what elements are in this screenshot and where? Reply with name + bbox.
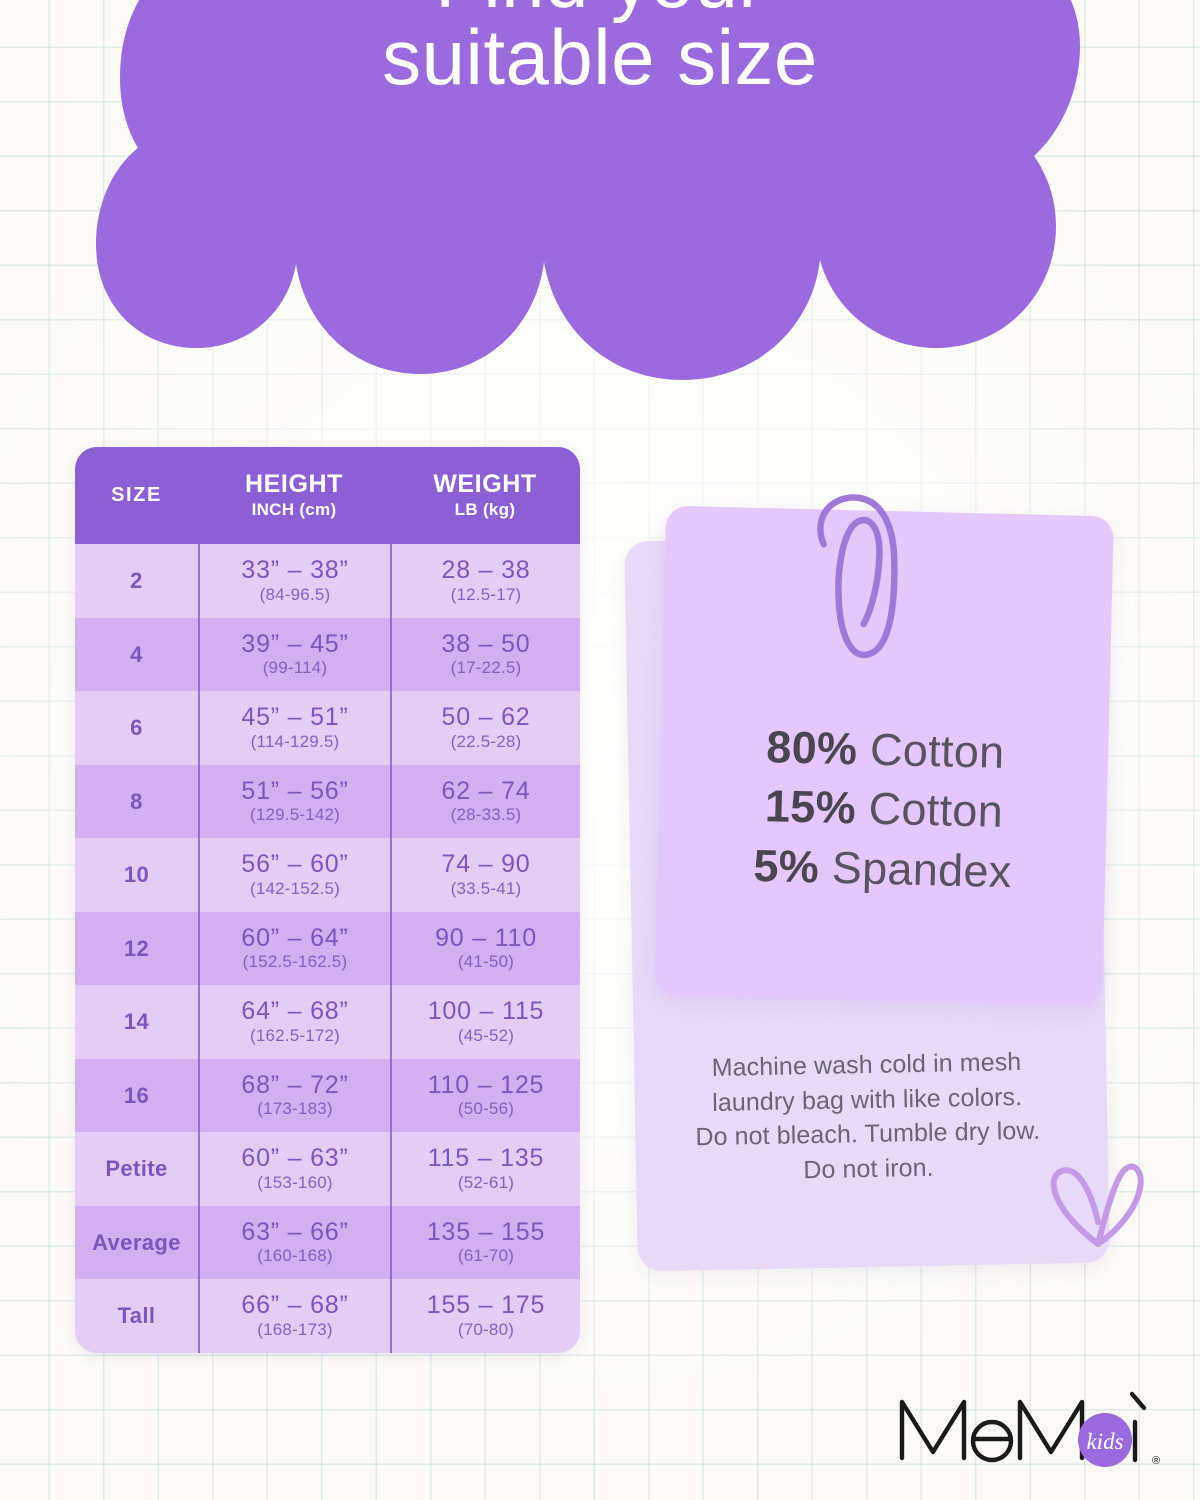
cell-size-value: 10	[124, 863, 149, 886]
cell-size-value: 6	[130, 716, 143, 739]
cell-size-value: 2	[130, 569, 143, 592]
cell-weight-kg: (22.5-28)	[451, 732, 522, 752]
table-header-row: SIZE HEIGHT INCH (cm) WEIGHT LB (kg)	[75, 447, 580, 544]
cell-height-inch: 60” – 63”	[241, 1145, 348, 1172]
cell-height: 68” – 72”(173-183)	[198, 1059, 390, 1133]
cell-height-cm: (99-114)	[263, 658, 328, 678]
cell-size-value: 14	[124, 1010, 149, 1033]
cell-height-inch: 66” – 68”	[241, 1292, 348, 1319]
cell-weight-lb: 155 – 175	[427, 1292, 545, 1319]
cell-size-value: 16	[124, 1084, 149, 1107]
cell-weight-lb: 110 – 125	[428, 1072, 545, 1099]
cell-height-cm: (173-183)	[257, 1099, 333, 1119]
logo-trademark: ®	[1152, 1455, 1160, 1467]
cell-weight-kg: (45-52)	[458, 1026, 514, 1046]
cell-weight-lb: 90 – 110	[435, 925, 537, 952]
cell-weight-lb: 38 – 50	[441, 631, 530, 658]
table-row: 1464” – 68”(162.5-172)100 – 115(45-52)	[75, 985, 580, 1059]
cell-height-cm: (153-160)	[257, 1173, 333, 1193]
header-cloud: Find your suitable size	[0, 0, 1200, 388]
table-row: Average63” – 66”(160-168)135 – 155(61-70…	[75, 1206, 580, 1280]
cell-height-cm: (152.5-162.5)	[243, 952, 348, 972]
cell-height: 39” – 45”(99-114)	[198, 618, 390, 692]
cell-size: 16	[75, 1059, 198, 1133]
cell-height: 60” – 63”(153-160)	[198, 1132, 390, 1206]
cell-height-inch: 39” – 45”	[241, 631, 348, 658]
cell-weight-lb: 135 – 155	[427, 1219, 545, 1246]
cell-height-cm: (114-129.5)	[251, 732, 340, 752]
cell-height: 56” – 60”(142-152.5)	[198, 838, 390, 912]
cell-weight: 28 – 38(12.5-17)	[390, 544, 580, 618]
cell-height: 60” – 64”(152.5-162.5)	[198, 912, 390, 986]
composition-material-1: Cotton	[870, 724, 1006, 778]
column-header-size-label: SIZE	[111, 485, 162, 506]
cell-size: 4	[75, 618, 198, 692]
cell-weight-kg: (28-33.5)	[451, 805, 522, 825]
cell-height-inch: 45” – 51”	[241, 704, 348, 731]
table-row: 439” – 45”(99-114)38 – 50(17-22.5)	[75, 618, 580, 692]
cell-height-cm: (168-173)	[257, 1320, 333, 1340]
cell-size: Petite	[75, 1132, 198, 1206]
cell-size: 6	[75, 691, 198, 765]
column-header-height-label: HEIGHT	[245, 471, 343, 497]
cell-height: 66” – 68”(168-173)	[198, 1279, 390, 1353]
cell-height: 64” – 68”(162.5-172)	[198, 985, 390, 1059]
column-header-weight-unit: LB (kg)	[455, 500, 516, 520]
cell-weight-kg: (61-70)	[458, 1246, 514, 1266]
cell-height-inch: 68” – 72”	[241, 1072, 348, 1099]
table-row: 233” – 38”(84-96.5)28 – 38(12.5-17)	[75, 544, 580, 618]
cell-size: 8	[75, 765, 198, 839]
composition-pct-2: 15%	[764, 780, 856, 833]
cell-height-inch: 63” – 66”	[241, 1219, 348, 1246]
table-body: 233” – 38”(84-96.5)28 – 38(12.5-17)439” …	[75, 544, 580, 1353]
table-row: 1668” – 72”(173-183)110 – 125(50-56)	[75, 1059, 580, 1133]
cell-height-cm: (129.5-142)	[250, 805, 340, 825]
cell-weight-lb: 28 – 38	[441, 557, 530, 584]
size-chart-table: SIZE HEIGHT INCH (cm) WEIGHT LB (kg) 233…	[75, 447, 580, 1353]
composition-pct-3: 5%	[753, 840, 820, 893]
cell-size: 14	[75, 985, 198, 1059]
logo-letter-i-accent	[1132, 1394, 1144, 1408]
column-header-weight-label: WEIGHT	[433, 471, 537, 497]
cell-weight-kg: (17-22.5)	[451, 658, 522, 678]
cell-size: 12	[75, 912, 198, 986]
composition-material-2: Cotton	[868, 783, 1004, 837]
cell-weight: 74 – 90(33.5-41)	[390, 838, 580, 912]
cell-height: 63” – 66”(160-168)	[198, 1206, 390, 1280]
cell-height-cm: (162.5-172)	[250, 1026, 340, 1046]
cell-weight-lb: 62 – 74	[441, 778, 530, 805]
table-row: Petite60” – 63”(153-160)115 – 135(52-61)	[75, 1132, 580, 1206]
cell-weight-lb: 100 – 115	[428, 998, 545, 1025]
cell-weight-kg: (33.5-41)	[451, 879, 522, 899]
cell-weight: 62 – 74(28-33.5)	[390, 765, 580, 839]
cell-weight: 155 – 175(70-80)	[390, 1279, 580, 1353]
logo-kids-text: kids	[1086, 1429, 1123, 1454]
table-row: 645” – 51”(114-129.5)50 – 62(22.5-28)	[75, 691, 580, 765]
cell-weight-lb: 50 – 62	[441, 704, 530, 731]
table-row: Tall66” – 68”(168-173)155 – 175(70-80)	[75, 1279, 580, 1353]
cell-weight-kg: (70-80)	[458, 1320, 514, 1340]
cell-height-cm: (84-96.5)	[260, 585, 331, 605]
cell-weight: 135 – 155(61-70)	[390, 1206, 580, 1280]
cell-weight-kg: (41-50)	[458, 952, 514, 972]
cell-size: Tall	[75, 1279, 198, 1353]
cell-size-value: 8	[130, 790, 143, 813]
care-instructions: Machine wash cold in mesh laundry bag wi…	[639, 1044, 1097, 1191]
column-header-size: SIZE	[75, 447, 198, 544]
cell-height: 33” – 38”(84-96.5)	[198, 544, 390, 618]
column-header-height-unit: INCH (cm)	[252, 500, 337, 520]
memoi-kids-logo: kids ®	[896, 1382, 1166, 1482]
cell-weight-kg: (12.5-17)	[451, 585, 522, 605]
composition-material-3: Spandex	[831, 842, 1012, 897]
cell-weight-lb: 74 – 90	[441, 851, 530, 878]
cell-weight: 115 – 135(52-61)	[390, 1132, 580, 1206]
composition-line-3: 5% Spandex	[658, 833, 1107, 903]
cell-size-value: Petite	[105, 1157, 167, 1180]
cell-height-inch: 51” – 56”	[241, 778, 348, 805]
cell-height-cm: (160-168)	[257, 1246, 333, 1266]
cell-height: 45” – 51”(114-129.5)	[198, 691, 390, 765]
cell-weight: 90 – 110(41-50)	[390, 912, 580, 986]
page-title: Find your suitable size	[0, 0, 1200, 96]
heart-doodle-icon	[1042, 1148, 1152, 1258]
cell-size: Average	[75, 1206, 198, 1280]
composition-text: 80% Cotton 15% Cotton 5% Spandex	[658, 715, 1110, 904]
cell-weight: 110 – 125(50-56)	[390, 1059, 580, 1133]
logo-letter-M2	[1020, 1402, 1082, 1458]
cell-size-value: Average	[92, 1231, 181, 1254]
cell-weight: 38 – 50(17-22.5)	[390, 618, 580, 692]
cell-size-value: 4	[130, 643, 143, 666]
column-header-weight: WEIGHT LB (kg)	[390, 447, 580, 544]
paperclip-icon	[806, 488, 916, 668]
cell-weight: 50 – 62(22.5-28)	[390, 691, 580, 765]
title-line-2: suitable size	[0, 19, 1200, 96]
cell-size-value: Tall	[118, 1304, 156, 1327]
cell-size-value: 12	[124, 937, 149, 960]
cell-weight-kg: (50-56)	[458, 1099, 514, 1119]
cell-height-inch: 56” – 60”	[241, 851, 348, 878]
column-header-height: HEIGHT INCH (cm)	[198, 447, 390, 544]
table-row: 851” – 56”(129.5-142)62 – 74(28-33.5)	[75, 765, 580, 839]
cell-height-inch: 64” – 68”	[241, 998, 348, 1025]
cell-height-cm: (142-152.5)	[250, 879, 340, 899]
logo-letter-M1	[902, 1402, 964, 1458]
cell-height-inch: 60” – 64”	[241, 925, 348, 952]
cell-weight: 100 – 115(45-52)	[390, 985, 580, 1059]
composition-line-1: 80% Cotton	[661, 715, 1110, 785]
cell-height: 51” – 56”(129.5-142)	[198, 765, 390, 839]
composition-pct-1: 80%	[766, 721, 858, 774]
cell-height-inch: 33” – 38”	[241, 557, 348, 584]
cell-size: 2	[75, 544, 198, 618]
table-row: 1260” – 64”(152.5-162.5)90 – 110(41-50)	[75, 912, 580, 986]
cell-weight-lb: 115 – 135	[428, 1145, 545, 1172]
table-row: 1056” – 60”(142-152.5)74 – 90(33.5-41)	[75, 838, 580, 912]
cell-weight-kg: (52-61)	[458, 1173, 514, 1193]
composition-line-2: 15% Cotton	[659, 774, 1108, 844]
cell-size: 10	[75, 838, 198, 912]
